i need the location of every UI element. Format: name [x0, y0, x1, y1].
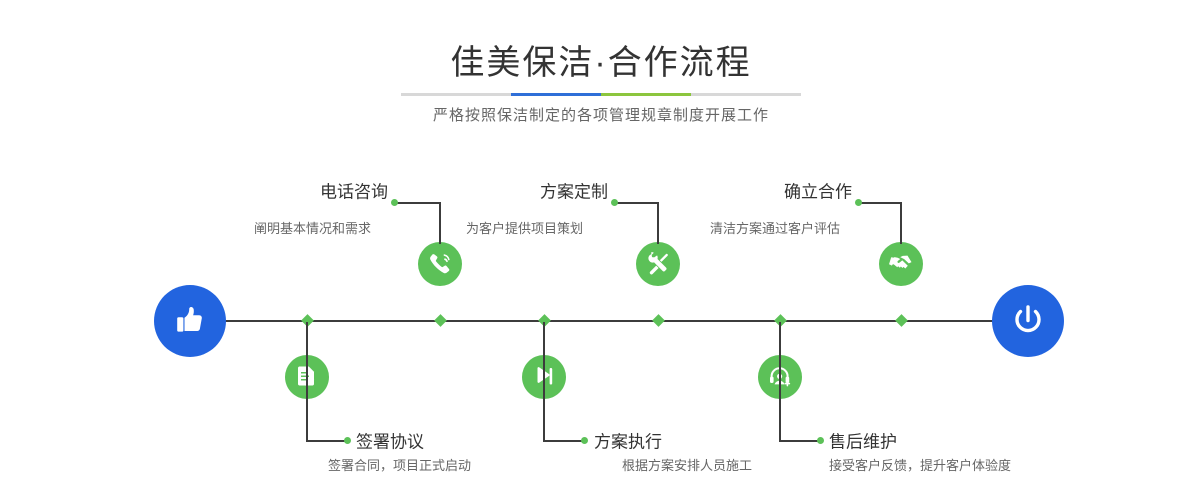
connector-dot-step-5 — [855, 199, 862, 206]
tools-icon — [645, 251, 671, 277]
connector-step-4-horizontal — [543, 440, 583, 442]
phone-ring-icon — [427, 251, 453, 277]
label-desc-step-5: 清洁方案通过客户评估 — [710, 218, 840, 237]
node-step-5 — [879, 242, 923, 286]
connector-step-2-horizontal — [306, 440, 346, 442]
connector-step-1-vertical — [439, 202, 441, 244]
label-title-step-3: 方案定制 — [540, 178, 608, 203]
connector-step-5-vertical — [900, 202, 902, 244]
connector-step-3-horizontal — [615, 202, 658, 204]
axis-marker-step-5 — [895, 314, 908, 327]
label-title-step-6: 售后维护 — [829, 428, 897, 453]
axis-marker-step-1 — [434, 314, 447, 327]
power-icon — [1008, 301, 1048, 341]
thumbs-up-icon — [171, 302, 209, 340]
label-desc-step-6: 接受客户反馈，提升客户体验度 — [829, 455, 1011, 474]
handshake-icon — [888, 251, 914, 277]
connector-dot-step-4 — [581, 437, 588, 444]
divider-segment-blue — [511, 93, 601, 96]
label-desc-step-4: 根据方案安排人员施工 — [622, 455, 752, 474]
label-title-step-5: 确立合作 — [784, 178, 852, 203]
connector-step-4-vertical — [543, 322, 545, 440]
page-title: 佳美保洁·合作流程 — [0, 35, 1202, 84]
end-node — [992, 285, 1064, 357]
axis-marker-step-3 — [652, 314, 665, 327]
connector-dot-step-1 — [391, 199, 398, 206]
divider-segment-green — [601, 93, 691, 96]
node-step-1 — [418, 242, 462, 286]
label-title-step-4: 方案执行 — [594, 428, 662, 453]
connector-dot-step-3 — [611, 199, 618, 206]
connector-step-6-horizontal — [779, 440, 819, 442]
connector-step-2-vertical — [306, 322, 308, 440]
connector-dot-step-6 — [817, 437, 824, 444]
label-title-step-1: 电话咨询 — [320, 178, 388, 203]
label-desc-step-1: 阐明基本情况和需求 — [254, 218, 371, 237]
connector-step-5-horizontal — [859, 202, 901, 204]
label-title-step-2: 签署协议 — [356, 428, 424, 453]
page-subtitle: 严格按照保洁制定的各项管理规章制度开展工作 — [0, 104, 1202, 125]
connector-step-1-horizontal — [395, 202, 440, 204]
title-divider — [401, 93, 801, 96]
label-desc-step-2: 签署合同，项目正式启动 — [328, 455, 471, 474]
connector-dot-step-2 — [344, 437, 351, 444]
start-node — [154, 285, 226, 357]
connector-step-3-vertical — [657, 202, 659, 244]
label-desc-step-3: 为客户提供项目策划 — [466, 218, 583, 237]
connector-step-6-vertical — [779, 322, 781, 440]
flow-diagram: 佳美保洁·合作流程 严格按照保洁制定的各项管理规章制度开展工作 — [0, 0, 1202, 502]
node-step-3 — [636, 242, 680, 286]
